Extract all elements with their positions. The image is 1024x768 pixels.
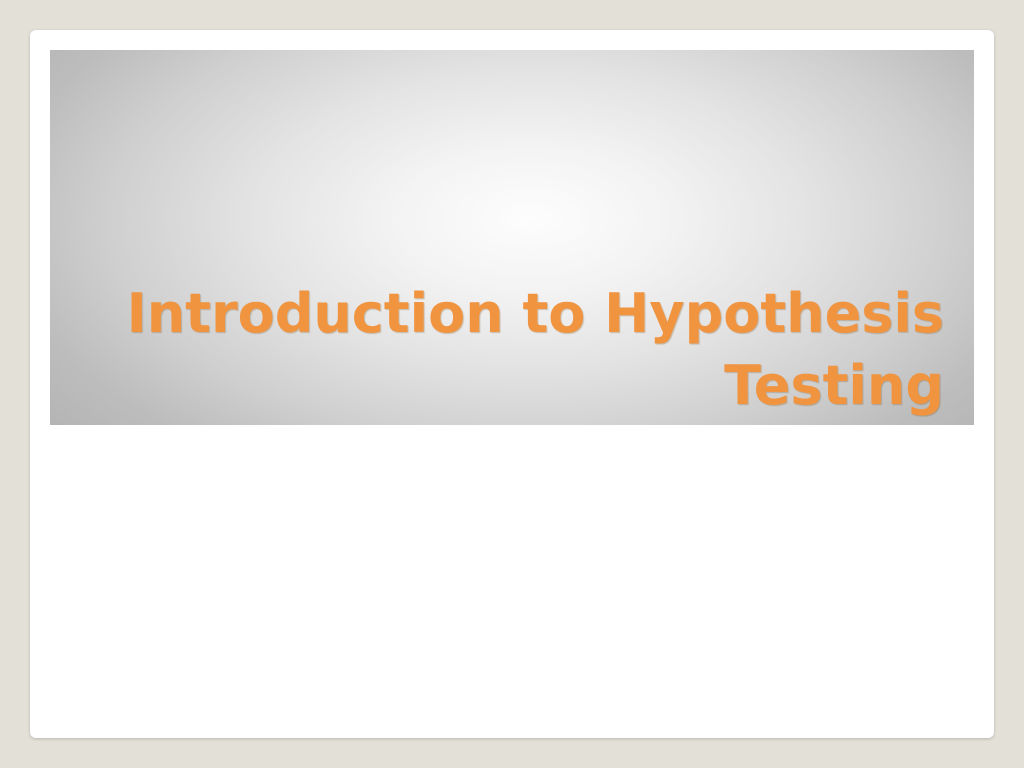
slide-body-placeholder (50, 425, 974, 718)
slide-title: Introduction to Hypothesis Testing (90, 278, 944, 421)
slide-canvas: Introduction to Hypothesis Testing (30, 30, 994, 738)
title-banner: Introduction to Hypothesis Testing (50, 50, 974, 425)
